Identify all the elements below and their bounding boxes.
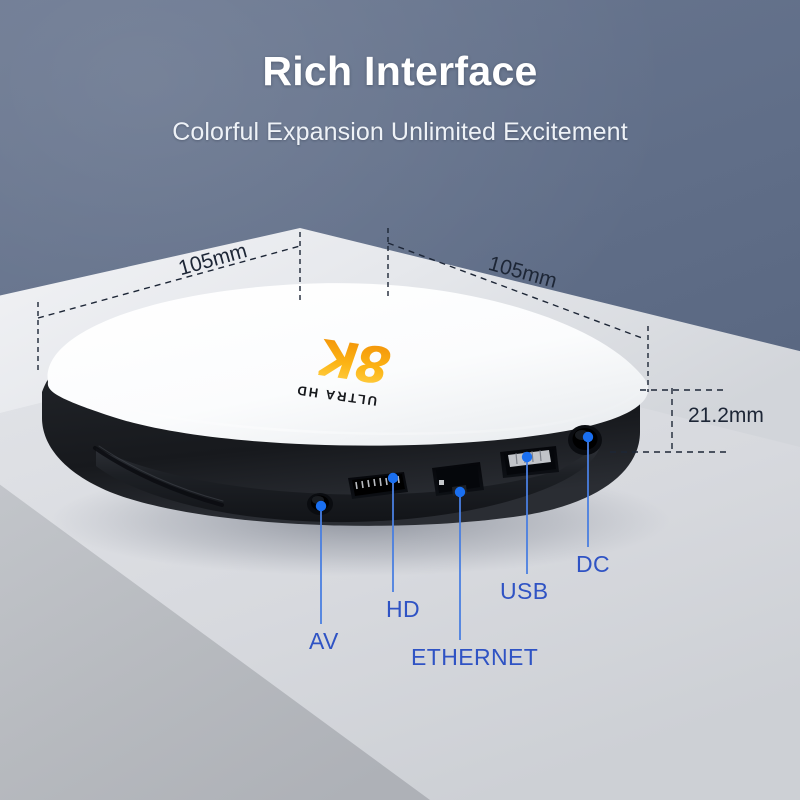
callout-label-av: AV	[309, 628, 339, 655]
callout-label-usb: USB	[500, 578, 549, 605]
product-infographic: ULTRA HD 8K Rich Interface Colorful Expa…	[0, 0, 800, 800]
marker-hd	[388, 473, 398, 483]
dimension-label-height: 21.2mm	[688, 404, 764, 428]
marker-dc	[583, 432, 593, 442]
leader-markers	[316, 432, 593, 511]
page-subtitle: Colorful Expansion Unlimited Excitement	[0, 118, 800, 147]
callout-label-dc: DC	[576, 551, 610, 578]
marker-ethernet	[455, 487, 465, 497]
leader-lines	[321, 437, 588, 640]
page-title: Rich Interface	[0, 48, 800, 95]
callout-label-hd: HD	[386, 596, 420, 623]
marker-av	[316, 501, 326, 511]
logo-8k-text: 8K	[317, 327, 394, 394]
callout-label-ethernet: ETHERNET	[411, 644, 538, 671]
marker-usb	[522, 452, 532, 462]
